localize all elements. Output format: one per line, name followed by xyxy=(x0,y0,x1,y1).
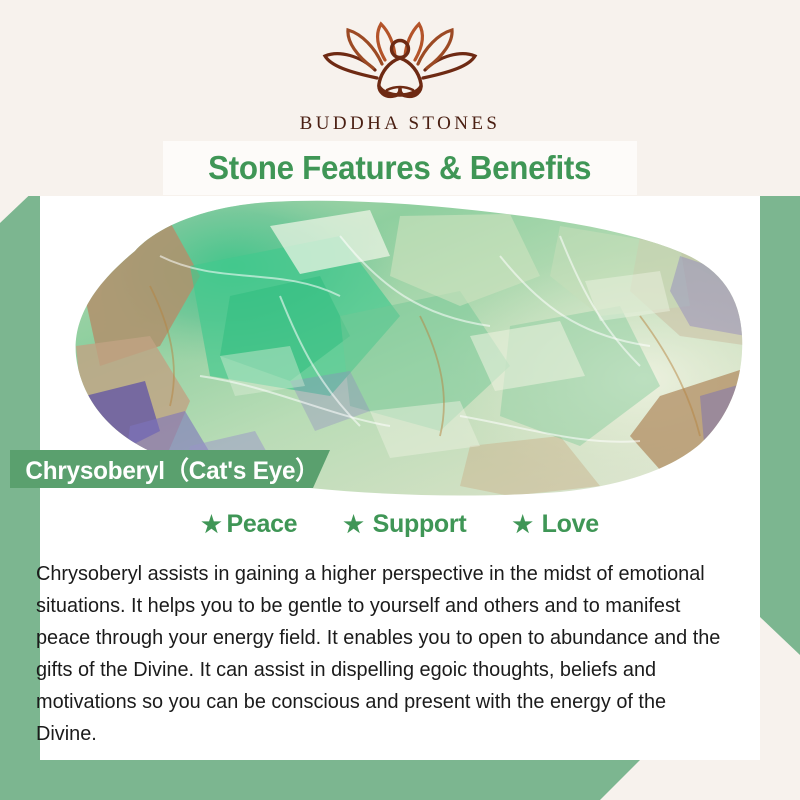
description-text: Chrysoberyl assists in gaining a higher … xyxy=(36,558,725,750)
benefit-item-love: ★ Love xyxy=(512,510,598,539)
stone-name-label: Chrysoberyl（Cat's Eye） xyxy=(15,451,320,487)
benefit-label: Love xyxy=(542,510,599,539)
frame-bar-bottom xyxy=(0,760,640,800)
star-icon: ★ xyxy=(343,513,363,536)
lotus-meditation-icon xyxy=(315,16,485,111)
benefit-item-support: ★ Support xyxy=(343,510,466,539)
benefit-label: Peace xyxy=(227,510,298,539)
star-icon: ★ xyxy=(201,513,221,536)
stone-info-poster: BUDDHA STONES Stone Features & Benefits xyxy=(0,0,800,800)
benefit-label: Support xyxy=(373,510,467,539)
page-title: Stone Features & Benefits xyxy=(208,149,591,187)
star-icon: ★ xyxy=(512,513,532,536)
brand-logo: BUDDHA STONES xyxy=(0,16,800,135)
title-banner: Stone Features & Benefits xyxy=(163,141,637,195)
benefit-item-peace: ★ Peace xyxy=(201,510,297,539)
benefits-row: ★ Peace ★ Support ★ Love xyxy=(40,510,760,539)
frame-bar-left xyxy=(0,185,40,800)
stone-name-banner: Chrysoberyl（Cat's Eye） xyxy=(10,450,330,488)
brand-name: BUDDHA STONES xyxy=(0,113,800,135)
